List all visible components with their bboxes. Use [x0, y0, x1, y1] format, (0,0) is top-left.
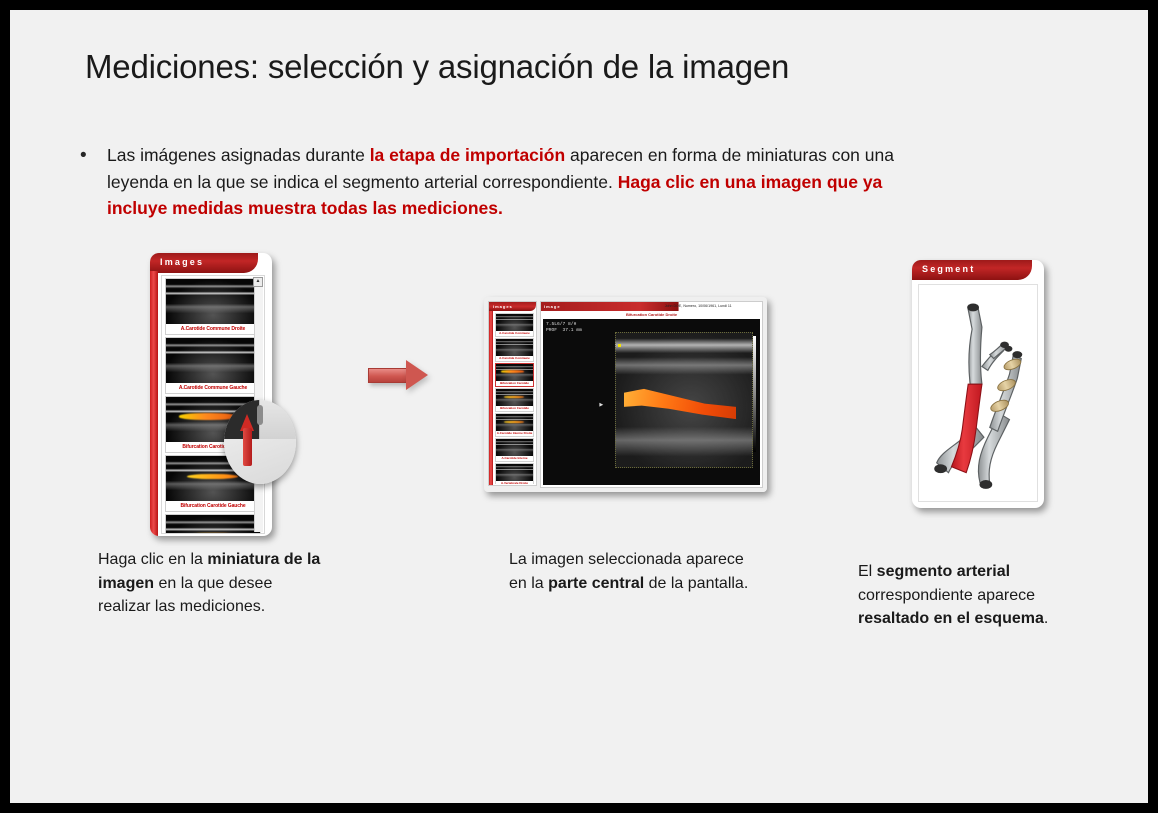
scroll-up-icon[interactable]: ▲ [253, 277, 263, 287]
caption-viewer-step: La imagen seleccionada aparece en la par… [509, 548, 754, 595]
ultrasound-texture [496, 339, 533, 356]
bullet-dot-icon: • [80, 146, 87, 165]
vessel-cap [934, 464, 947, 473]
segment-diagram-container [918, 284, 1038, 502]
list-item[interactable]: A.Vertebrale Droite [495, 463, 534, 484]
viewer-strip-header: Images [489, 302, 536, 311]
caption3-bold2: resaltado en el esquema [858, 610, 1044, 627]
list-item[interactable]: A.Carotide Commune Gauche [495, 338, 534, 362]
ultrasound-texture [166, 515, 260, 534]
color-doppler-flow-overlay [624, 387, 736, 419]
ultrasound-thumbnail-image [496, 464, 533, 481]
list-item-label: A.Carotide Commune Gauche [166, 383, 260, 393]
list-item[interactable]: A.Carotide Commune Droite [165, 278, 261, 335]
ultrasound-canvas[interactable]: 7.5L6/7 8/H PROF 37.1 mm ▶ [543, 319, 760, 485]
ultrasound-thumbnail-image [496, 314, 533, 331]
vessel-cap [1005, 346, 1013, 352]
vessel-cap [967, 304, 979, 312]
list-item[interactable]: A.Carotide Interne Droite [495, 413, 534, 437]
ultrasound-thumbnail-image [496, 389, 533, 406]
list-item-label: Bifurcation Carotide Droite [496, 381, 533, 386]
vessel-cap [979, 480, 992, 489]
images-panel-header: Images [150, 253, 258, 273]
list-item-selected[interactable]: Bifurcation Carotide Droite [495, 363, 534, 387]
mouse-click-icon [224, 400, 296, 484]
plaque-overlay [501, 370, 524, 373]
arrow-bar [368, 368, 408, 383]
bullet-text-part1: Las imágenes asignadas durante [107, 145, 370, 165]
list-item-label: A.Carotide Commune Droite [496, 331, 533, 336]
list-item-label: Bifurcation Carotide Gauche [166, 501, 260, 511]
ultrasound-thumbnail-image [496, 439, 533, 456]
segment-panel-header: Segment [912, 260, 1032, 280]
caption2-text2: de la pantalla. [644, 575, 748, 592]
viewer-thumbnail-strip[interactable]: Images A.Carotide Commune Droite A.Carot… [488, 301, 537, 486]
list-item-label: A.Carotide Interne Gauche [496, 456, 533, 461]
vessel-internal-carotid [968, 307, 982, 384]
ultrasound-thumbnail-image [496, 414, 533, 431]
carotid-artery-diagram [919, 285, 1037, 501]
caption3-text2: correspondiente aparece [858, 587, 1035, 604]
list-item-label: A.Carotide Commune Droite [166, 324, 260, 334]
slide-canvas: Mediciones: selección y asignación de la… [10, 10, 1148, 803]
segment-panel[interactable]: Segment [912, 260, 1044, 508]
ultrasound-thumbnail-image [166, 515, 260, 534]
bullet-text-red1: la etapa de importación [370, 145, 565, 165]
list-item-label: A.Carotide Interne Droite [496, 431, 533, 436]
caption1-text1: Haga clic en la [98, 551, 207, 568]
images-thumbnail-panel[interactable]: Images A.Carotide Commune Droite A.Carot… [150, 253, 272, 536]
depth-marker-icon: ▶ [599, 402, 603, 408]
vessel-cap [1012, 351, 1022, 358]
ultrasound-thumbnail-image [166, 338, 260, 383]
orientation-dot-icon [618, 344, 621, 347]
list-item-label: Bifurcation Carotide Gauche [496, 406, 533, 411]
list-item[interactable]: A.Carotide Commune Droite [495, 313, 534, 337]
ultrasound-osd-line2: PROF 37.1 mm [546, 328, 582, 334]
list-item[interactable]: A.Carotide Commune Gauche [165, 337, 261, 394]
flow-arrow-icon [368, 360, 428, 390]
caption-segment-step: El segmento arterial correspondiente apa… [858, 560, 1103, 631]
list-item-label: A.Carotide Commune Gauche [496, 356, 533, 361]
arrow-tip [406, 360, 428, 390]
mouse-wheel [257, 405, 263, 425]
ultrasound-texture [166, 279, 260, 324]
caption3-text1: El [858, 563, 877, 580]
viewer-main-area: Image John DOE, Numero, 10/06/1961, Lund… [540, 301, 763, 488]
ultrasound-thumbnail-image [166, 279, 260, 324]
image-title: Bifurcation Carotide Droite [541, 311, 762, 318]
viewer-main-header-label: Image [544, 302, 561, 311]
ultrasound-texture [496, 314, 533, 331]
grayscale-bar [753, 336, 756, 452]
image-viewer-panel[interactable]: Images A.Carotide Commune Droite A.Carot… [484, 297, 767, 492]
ultrasound-texture [496, 439, 533, 456]
panel-red-accent-bar [150, 271, 158, 536]
ultrasound-thumbnail-image [496, 364, 533, 381]
bullet-text: Las imágenes asignadas durante la etapa … [107, 142, 942, 222]
arrow-shaft [243, 428, 252, 466]
plaque-overlay [187, 533, 239, 534]
caption3-bold1: segmento arterial [877, 563, 1010, 580]
bullet-paragraph: • Las imágenes asignadas durante la etap… [72, 142, 942, 222]
ultrasound-thumbnail-image [496, 339, 533, 356]
click-arrow-icon [240, 414, 254, 466]
viewer-red-accent-bar [489, 311, 493, 485]
mouse-right-button [259, 400, 296, 439]
plaque-overlay [504, 396, 524, 398]
page-title: Mediciones: selección y asignación de la… [85, 48, 789, 86]
list-item[interactable]: Bifurcation Carotide Gauche [495, 388, 534, 412]
caption2-bold1: parte central [548, 575, 644, 592]
plaque-overlay [504, 421, 524, 423]
caption-thumbnail-step: Haga clic en la miniatura de la imagen e… [98, 548, 323, 619]
list-item-label: A.Vertebrale Droite [496, 481, 533, 484]
viewer-thumb-container[interactable]: A.Carotide Commune Droite A.Carotide Com… [495, 313, 534, 484]
ultrasound-texture [166, 338, 260, 383]
patient-info: John DOE, Numero, 10/06/1961, Lundi 11 [665, 302, 732, 311]
viewer-inner: Images A.Carotide Commune Droite A.Carot… [484, 297, 767, 492]
ultrasound-texture [496, 464, 533, 481]
viewer-main-header: Image John DOE, Numero, 10/06/1961, Lund… [541, 302, 762, 311]
ultrasound-image [615, 332, 754, 468]
caption3-text3: . [1044, 610, 1048, 627]
list-item[interactable]: A.Carotide Interne Gauche [495, 438, 534, 462]
list-item[interactable]: A.Carotide Interne Droite [165, 514, 261, 534]
